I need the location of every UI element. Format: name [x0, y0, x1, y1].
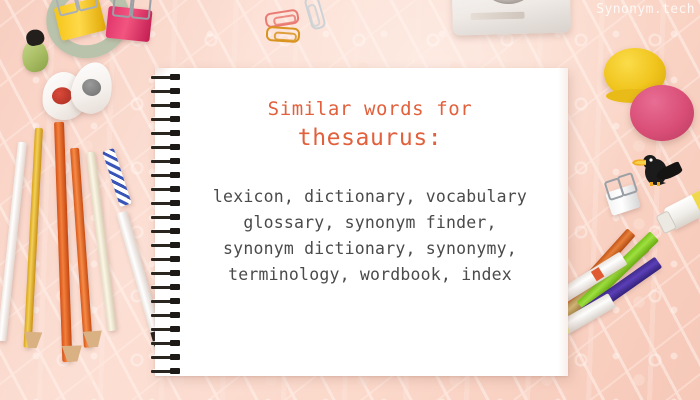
site-watermark: Synonym.tech — [596, 2, 695, 17]
spiral-ring — [149, 88, 183, 94]
spiral-ring — [149, 284, 183, 290]
pencil-tip — [23, 332, 42, 349]
clip-arm — [54, 0, 79, 17]
binder-clip-pink — [105, 6, 152, 42]
camera — [451, 0, 571, 36]
paperclip-gold — [266, 26, 301, 43]
screenshot-root: Similar words for thesaurus: lexicon, di… — [0, 0, 700, 400]
spiral-ring — [149, 158, 183, 164]
spiral-ring — [149, 270, 183, 276]
spiral-ring — [149, 340, 183, 346]
spiral-binding — [149, 74, 183, 374]
spiral-ring — [149, 144, 183, 150]
spiral-ring — [149, 130, 183, 136]
spiral-ring — [149, 298, 183, 304]
marker-label — [591, 267, 604, 281]
camera-lens-icon — [477, 0, 541, 5]
eraser-red-center — [51, 86, 73, 106]
spiral-ring — [149, 228, 183, 234]
paint-tube-band — [691, 189, 700, 216]
synonym-line: synonym dictionary, synonymy, — [185, 236, 555, 262]
spiral-ring — [149, 186, 183, 192]
spiral-ring — [149, 74, 183, 80]
synonym-line: glossary, synonym finder, — [185, 210, 555, 236]
spiral-ring — [149, 214, 183, 220]
spiral-ring — [149, 242, 183, 248]
pencil-tip — [62, 345, 83, 362]
query-word: thesaurus: — [185, 123, 555, 153]
synonym-line: lexicon, dictionary, vocabulary — [185, 184, 555, 210]
similar-words-label: Similar words for — [185, 96, 555, 123]
pencil-tip — [83, 331, 103, 348]
camera-grip — [470, 12, 524, 20]
spiral-ring — [149, 326, 183, 332]
macaron-pink — [630, 85, 694, 141]
notepad-content: Similar words for thesaurus: lexicon, di… — [185, 96, 555, 288]
eraser-gray-center — [81, 77, 103, 98]
spiral-ring — [149, 200, 183, 206]
synonym-list: lexicon, dictionary, vocabulary glossary… — [185, 184, 555, 288]
spiral-ring — [149, 354, 183, 360]
spiral-ring — [149, 256, 183, 262]
spiral-ring — [149, 312, 183, 318]
clip-arm — [131, 0, 153, 20]
spiral-ring — [149, 102, 183, 108]
spiral-ring — [149, 368, 183, 374]
spiral-ring — [149, 172, 183, 178]
spiral-ring — [149, 116, 183, 122]
synonym-line: terminology, wordbook, index — [185, 262, 555, 288]
